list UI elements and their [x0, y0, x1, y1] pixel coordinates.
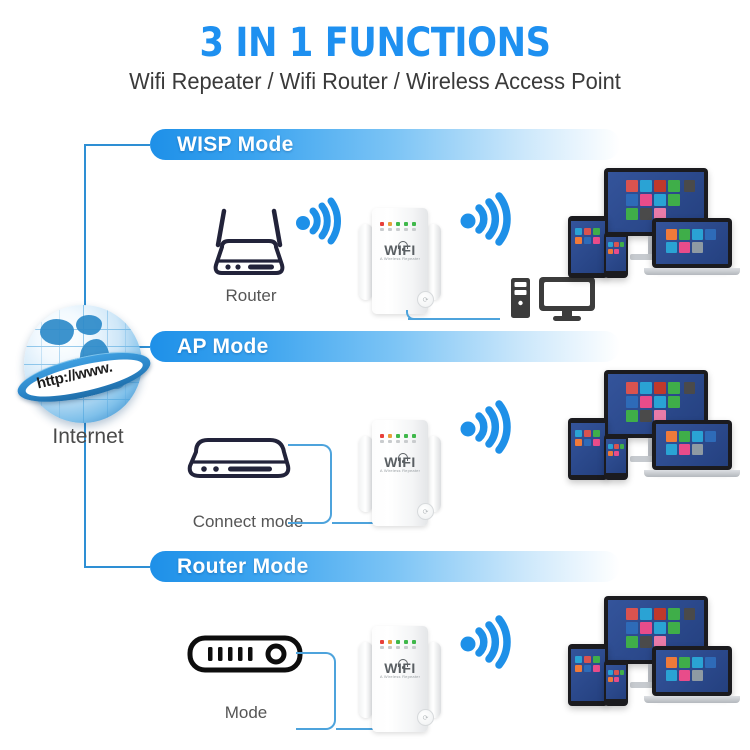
repeater-subbrand: A Wireless Repeater: [358, 674, 442, 679]
banner-wisp-mode[interactable]: WISP Mode: [150, 129, 620, 160]
repeater-led-row: [380, 222, 416, 226]
multi-device-cluster: [560, 596, 750, 708]
laptop-device: [652, 646, 732, 696]
banner-router-label: Router Mode: [177, 555, 309, 579]
phone-device: [604, 434, 628, 480]
banner-router-mode[interactable]: Router Mode: [150, 551, 620, 582]
repeater-antenna-left: [359, 642, 373, 718]
wifi-signal-icon: [452, 175, 524, 252]
ethernet-cable-ap: [288, 444, 332, 524]
page-subtitle: Wifi Repeater / Wifi Router / Wireless A…: [19, 68, 732, 95]
phone-device: [604, 660, 628, 706]
repeater-led-labels: [380, 228, 416, 231]
repeater-led-row: [380, 640, 416, 644]
repeater-antenna-right: [427, 642, 441, 718]
wifi-signal-icon: [452, 383, 524, 460]
connector-branch-wisp: [84, 144, 150, 146]
repeater-antenna-left: [359, 224, 373, 300]
tablet-device: [568, 418, 608, 480]
repeater-led-row: [380, 434, 416, 438]
router-caption: Router: [196, 286, 306, 306]
broadband-mode-caption: Mode: [186, 703, 306, 723]
banner-ap-mode[interactable]: AP Mode: [150, 331, 620, 362]
globe-landmass: [76, 315, 102, 335]
banner-wisp-label: WISP Mode: [177, 133, 294, 157]
connector-branch-router: [84, 566, 150, 568]
wifi-repeater-device: WIFI A Wireless Repeater ⟳: [358, 626, 442, 736]
repeater-subbrand: A Wireless Repeater: [358, 256, 442, 261]
internet-source: http://www. Internet: [14, 305, 162, 435]
wifi-signal-icon: [288, 183, 350, 250]
repeater-wps-button[interactable]: ⟳: [417, 503, 434, 520]
repeater-led-labels: [380, 646, 416, 649]
repeater-antenna-right: [427, 436, 441, 512]
banner-ap-label: AP Mode: [177, 335, 269, 359]
laptop-base: [644, 268, 740, 275]
laptop-device: [652, 420, 732, 470]
repeater-wps-button[interactable]: ⟳: [417, 709, 434, 726]
internet-label: Internet: [14, 425, 162, 449]
broadband-mode-icon: [186, 632, 306, 676]
repeater-antenna-left: [359, 436, 373, 512]
multi-device-cluster: [560, 168, 750, 280]
page-title: 3 IN 1 FUNCTIONS: [45, 20, 705, 66]
wifi-repeater-device: WIFI A Wireless Repeater ⟳: [358, 208, 442, 318]
infographic-canvas: 3 IN 1 FUNCTIONS Wifi Repeater / Wifi Ro…: [0, 0, 750, 750]
multi-device-cluster: [560, 370, 750, 482]
wifi-repeater-device: WIFI A Wireless Repeater ⟳: [358, 420, 442, 530]
tablet-device: [568, 644, 608, 706]
laptop-device: [652, 218, 732, 268]
laptop-base: [644, 470, 740, 477]
repeater-subbrand: A Wireless Repeater: [358, 468, 442, 473]
repeater-led-labels: [380, 440, 416, 443]
phone-device: [604, 232, 628, 278]
tablet-device: [568, 216, 608, 278]
modem-icon: [178, 424, 298, 484]
desktop-pc-icon: [508, 274, 598, 322]
wifi-signal-icon: [452, 598, 524, 675]
repeater-antenna-right: [427, 224, 441, 300]
ethernet-cable-router: [296, 652, 336, 730]
ethernet-cable-wisp: [408, 318, 500, 320]
laptop-base: [644, 696, 740, 703]
globe-landmass: [40, 319, 74, 345]
repeater-wps-button[interactable]: ⟳: [417, 291, 434, 308]
